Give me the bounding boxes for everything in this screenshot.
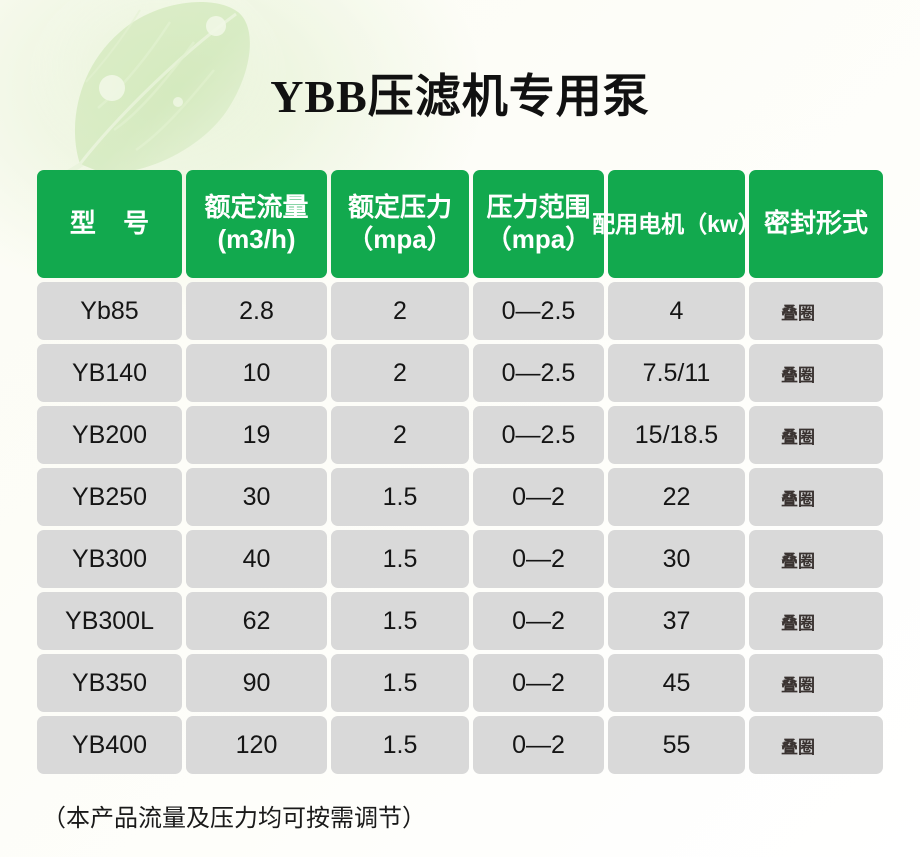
cell-pressure: 1.5 (331, 530, 469, 588)
cell-model: Yb85 (37, 282, 182, 340)
cell-flow: 120 (186, 716, 327, 774)
cell-range: 0—2.5 (473, 282, 604, 340)
cell-flow: 90 (186, 654, 327, 712)
table-row: YB300L 62 1.5 0—2 37 叠圈 (37, 592, 883, 650)
cell-range: 0—2.5 (473, 344, 604, 402)
table-header-row: 型 号 额定流量 (m3/h) 额定压力 （mpa） 压力范围 （mpa） (37, 170, 883, 278)
column-header-pressure-range: 压力范围 （mpa） (473, 170, 604, 278)
cell-flow: 62 (186, 592, 327, 650)
column-header-pressure-range-unit: （mpa） (486, 224, 591, 256)
cell-motor: 4 (608, 282, 745, 340)
cell-range: 0—2.5 (473, 406, 604, 464)
cell-range: 0—2 (473, 530, 604, 588)
cell-motor: 55 (608, 716, 745, 774)
column-header-rated-flow: 额定流量 (m3/h) (186, 170, 327, 278)
cell-pressure: 1.5 (331, 592, 469, 650)
cell-flow: 19 (186, 406, 327, 464)
cell-flow: 40 (186, 530, 327, 588)
column-header-model: 型 号 (37, 170, 182, 278)
product-spec-page: YBB压滤机专用泵 型 号 额定流量 (m3/h) 额定压力 （mpa） (0, 0, 920, 857)
cell-motor: 37 (608, 592, 745, 650)
cell-range: 0—2 (473, 716, 604, 774)
cell-flow: 30 (186, 468, 327, 526)
cell-seal: 叠圈 (749, 282, 883, 340)
cell-model: YB300 (37, 530, 182, 588)
table-row: Yb85 2.8 2 0—2.5 4 叠圈 (37, 282, 883, 340)
table-row: YB400 120 1.5 0—2 55 叠圈 (37, 716, 883, 774)
cell-flow: 10 (186, 344, 327, 402)
footnote: （本产品流量及压力均可按需调节） (42, 798, 426, 833)
cell-model: YB250 (37, 468, 182, 526)
cell-motor: 30 (608, 530, 745, 588)
cell-motor: 45 (608, 654, 745, 712)
column-header-rated-pressure-label: 额定压力 (347, 192, 452, 224)
table-row: YB200 19 2 0—2.5 15/18.5 叠圈 (37, 406, 883, 464)
cell-pressure: 2 (331, 282, 469, 340)
column-header-rated-pressure: 额定压力 （mpa） (331, 170, 469, 278)
table-row: YB140 10 2 0—2.5 7.5/11 叠圈 (37, 344, 883, 402)
cell-seal: 叠圈 (749, 592, 883, 650)
table-row: YB350 90 1.5 0—2 45 叠圈 (37, 654, 883, 712)
cell-motor: 7.5/11 (608, 344, 745, 402)
table-row: YB300 40 1.5 0—2 30 叠圈 (37, 530, 883, 588)
cell-seal: 叠圈 (749, 716, 883, 774)
cell-model: YB400 (37, 716, 182, 774)
cell-flow: 2.8 (186, 282, 327, 340)
cell-pressure: 1.5 (331, 716, 469, 774)
cell-motor: 15/18.5 (608, 406, 745, 464)
column-header-seal-type: 密封形式 (749, 170, 883, 278)
column-header-rated-pressure-unit: （mpa） (347, 224, 452, 256)
spec-table: 型 号 额定流量 (m3/h) 额定压力 （mpa） 压力范围 （mpa） (37, 170, 883, 778)
cell-seal: 叠圈 (749, 344, 883, 402)
cell-seal: 叠圈 (749, 654, 883, 712)
cell-seal: 叠圈 (749, 406, 883, 464)
table-row: YB250 30 1.5 0—2 22 叠圈 (37, 468, 883, 526)
cell-pressure: 2 (331, 406, 469, 464)
cell-seal: 叠圈 (749, 530, 883, 588)
column-header-pressure-range-label: 压力范围 (486, 192, 591, 224)
cell-pressure: 1.5 (331, 654, 469, 712)
cell-pressure: 1.5 (331, 468, 469, 526)
cell-range: 0—2 (473, 468, 604, 526)
column-header-rated-flow-unit: (m3/h) (204, 224, 308, 256)
column-header-motor-label: 配用电机（kw） (592, 210, 761, 238)
cell-model: YB350 (37, 654, 182, 712)
column-header-rated-flow-label: 额定流量 (204, 192, 308, 224)
cell-motor: 22 (608, 468, 745, 526)
cell-range: 0—2 (473, 654, 604, 712)
cell-model: YB200 (37, 406, 182, 464)
cell-model: YB140 (37, 344, 182, 402)
page-title: YBB压滤机专用泵 (0, 60, 920, 126)
column-header-seal-type-label: 密封形式 (764, 208, 868, 240)
column-header-model-label: 型 号 (60, 208, 159, 240)
cell-seal: 叠圈 (749, 468, 883, 526)
column-header-motor: 配用电机（kw） (608, 170, 745, 278)
cell-range: 0—2 (473, 592, 604, 650)
cell-pressure: 2 (331, 344, 469, 402)
cell-model: YB300L (37, 592, 182, 650)
